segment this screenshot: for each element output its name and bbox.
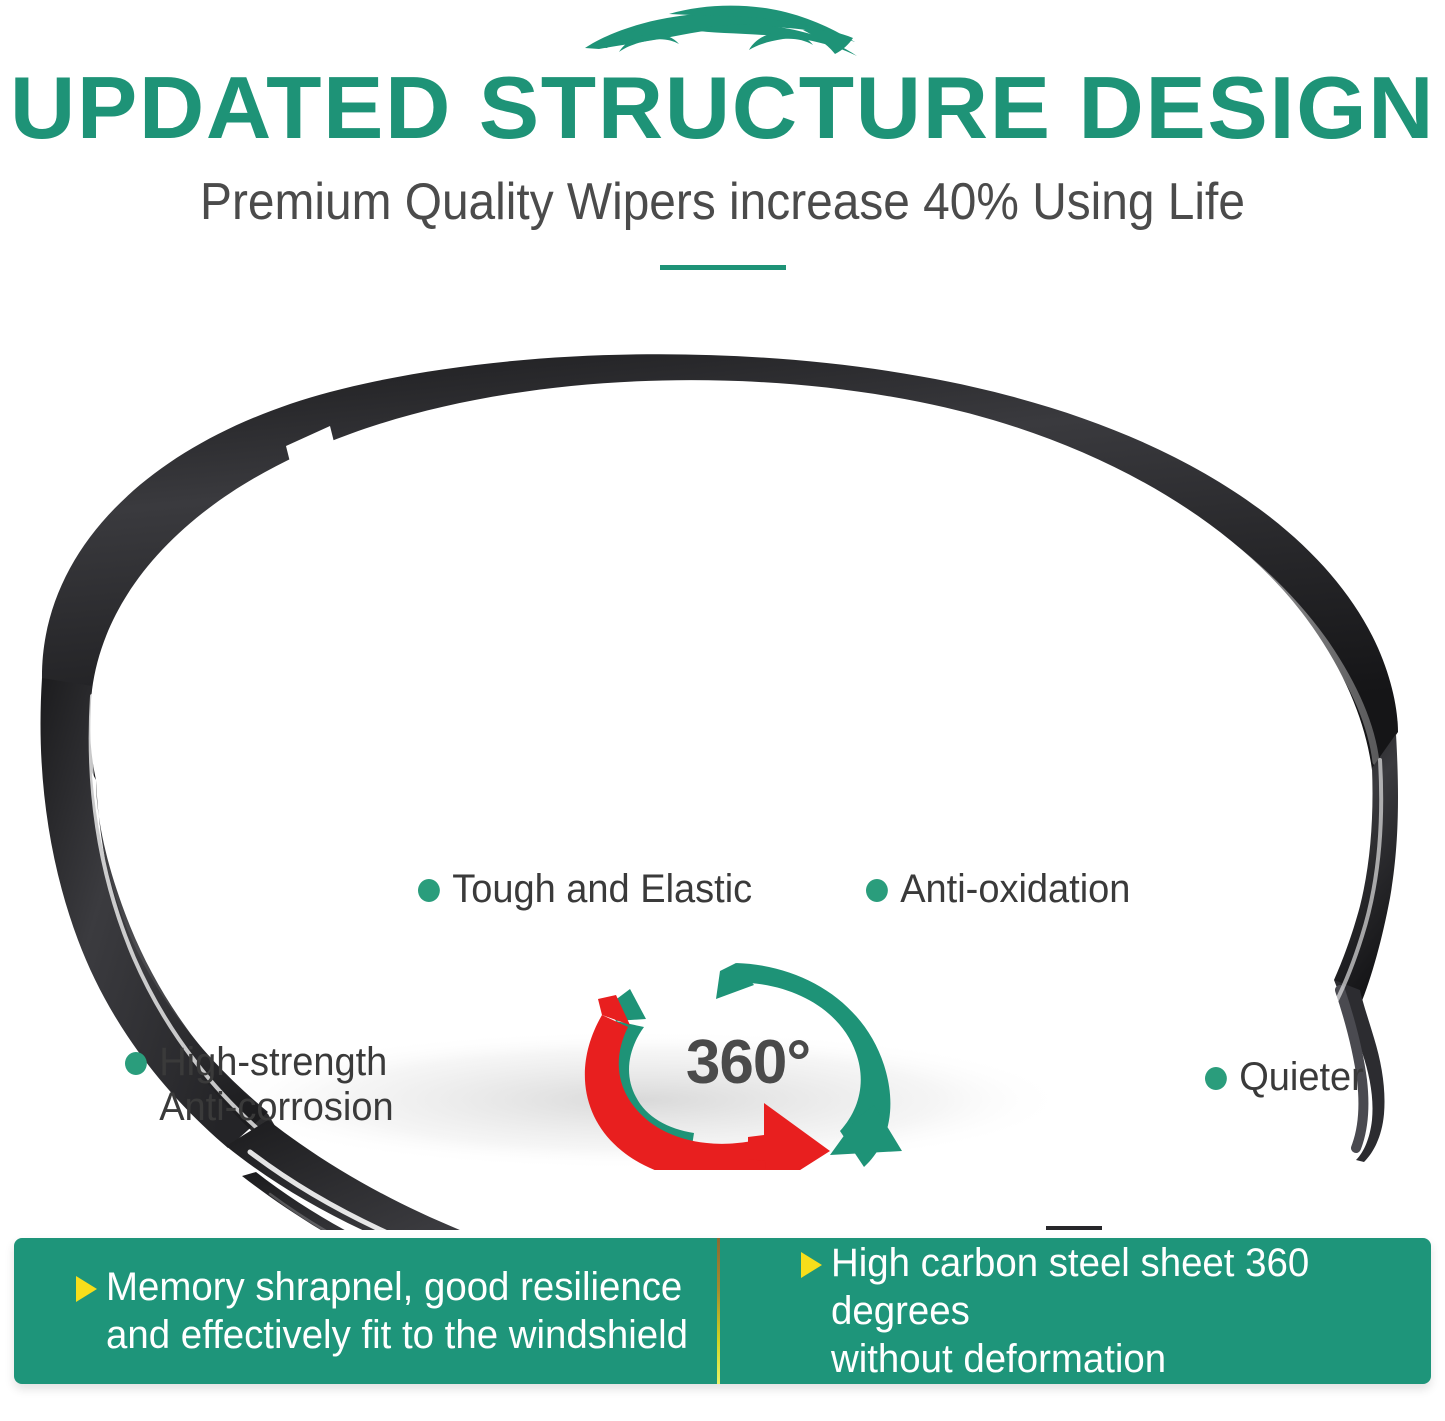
bullet-dot-icon [125, 1052, 147, 1075]
bullet-dot-icon [866, 879, 888, 902]
feature-label-tough-and-elastic: Tough and Elastic [418, 867, 752, 912]
bottom-feature-banner: Memory shrapnel, good resilience and eff… [14, 1238, 1431, 1384]
header-section: UPDATED STRUCTURE DESIGN Premium Quality… [0, 0, 1445, 300]
page-title: UPDATED STRUCTURE DESIGN [0, 62, 1445, 154]
rotation-360-badge: 360° [568, 955, 928, 1170]
feature-label-text: Tough and Elastic [452, 867, 752, 912]
banner-row: High carbon steel sheet 360 degrees with… [801, 1239, 1432, 1383]
bullet-dot-icon [1205, 1067, 1227, 1090]
feature-label-quieter: Quieter [1205, 1055, 1364, 1100]
feature-label-text: High-strength Anti-corrosion [159, 1040, 393, 1130]
banner-panel-left: Memory shrapnel, good resilience and eff… [14, 1238, 723, 1384]
banner-panel-right: High carbon steel sheet 360 degrees with… [723, 1238, 1432, 1384]
title-divider-rule [660, 265, 786, 270]
bullet-dot-icon [418, 879, 440, 902]
feature-label-text: Quieter [1239, 1055, 1364, 1100]
banner-row: Memory shrapnel, good resilience and eff… [76, 1263, 712, 1359]
sports-car-silhouette-logo [563, 2, 883, 64]
page-subtitle: Premium Quality Wipers increase 40% Usin… [58, 172, 1387, 232]
product-showcase: High-strength Anti-corrosion Tough and E… [0, 300, 1445, 1230]
feature-label-high-strength-anti-corrosion: High-strength Anti-corrosion [125, 1040, 394, 1130]
triangle-arrow-icon [76, 1276, 97, 1302]
rotation-360-arrows-icon [568, 955, 928, 1170]
banner-text-left: Memory shrapnel, good resilience and eff… [106, 1263, 688, 1359]
triangle-arrow-icon [801, 1252, 822, 1278]
feature-label-anti-oxidation: Anti-oxidation [866, 867, 1130, 912]
feature-label-text: Anti-oxidation [900, 867, 1130, 912]
banner-text-right: High carbon steel sheet 360 degrees with… [831, 1239, 1407, 1383]
banner-vertical-divider [717, 1238, 720, 1384]
